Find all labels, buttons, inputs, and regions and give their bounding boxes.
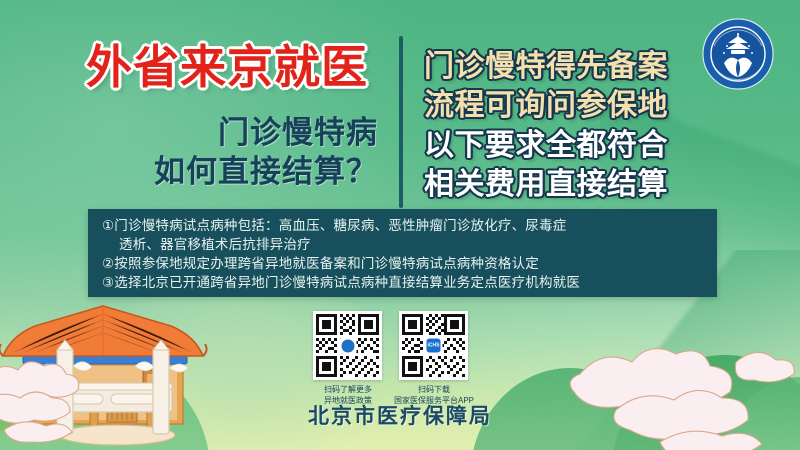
- poster-canvas: 外省来京就医 门诊慢特病 如何直接结算？ 门诊慢特得先备案 流程可询问参保地 以…: [0, 0, 800, 450]
- right-headline-line-1: 门诊慢特得先备案: [424, 52, 724, 82]
- right-headline-line-2: 流程可询问参保地: [424, 91, 724, 121]
- qr-block-policy: 扫码了解更多 异地就医政策: [313, 311, 388, 407]
- requirements-info-box: ①门诊慢特病试点病种包括：高血压、糖尿病、恶性肿瘤门诊放化疗、尿毒症 透析、器官…: [88, 209, 717, 297]
- app-qr-caption-line-1: 扫码下载: [379, 385, 489, 396]
- beijing-medical-insurance-logo-icon: [700, 16, 776, 92]
- subtitle-line-2: 如何直接结算？: [38, 152, 378, 192]
- info-item-1-cont: 透析、器官移植术后抗排异治疗: [119, 238, 311, 252]
- policy-qr-icon[interactable]: [313, 311, 382, 380]
- qr-block-app: iCHS 扫码下载 国家医保服务平台APP: [399, 311, 489, 407]
- policy-qr-caption-line-1: 扫码了解更多: [308, 385, 388, 396]
- info-item-2: ②按照参保地规定办理跨省异地就医备案和门诊慢特病试点病种资格认定: [102, 257, 539, 271]
- info-item-1: ①门诊慢特病试点病种包括：高血压、糖尿病、恶性肿瘤门诊放化疗、尿毒症: [102, 219, 566, 233]
- page-title: 外省来京就医: [86, 44, 386, 90]
- app-qr-center-logo: iCHS: [425, 337, 442, 354]
- info-item-3: ③选择北京已开通跨省异地门诊慢特病试点病种直接结算业务定点医疗机构就医: [102, 276, 580, 290]
- cloud-decoration-right: [560, 330, 800, 450]
- policy-qr-center-logo: [339, 337, 356, 354]
- right-headline-line-3: 以下要求全都符合: [424, 131, 724, 161]
- app-qr-icon[interactable]: iCHS: [399, 311, 468, 380]
- right-headline-line-4: 相关费用直接结算: [424, 170, 724, 200]
- vertical-divider: [399, 36, 403, 208]
- subtitle-line-1: 门诊慢特病: [38, 113, 378, 153]
- app-qr-center-label: iCHS: [427, 339, 441, 353]
- organization-name: 北京市医疗保障局: [0, 400, 800, 430]
